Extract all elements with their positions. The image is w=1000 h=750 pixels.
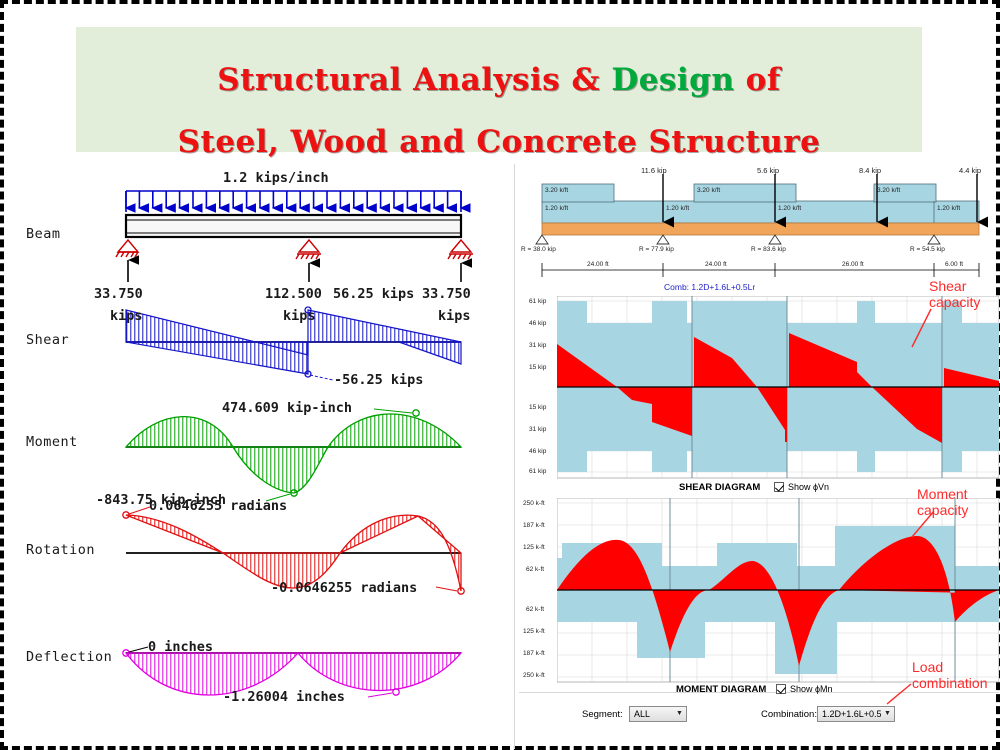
upper-dist-load-label-1: 3.20 k/ft	[545, 187, 568, 194]
shear-ytick-bottom-4: 61 kip	[529, 468, 546, 475]
moment-ytick-top-2: 187 k-ft	[523, 522, 545, 529]
lower-dist-load-label-4: 1.20 k/ft	[937, 205, 960, 212]
shear-ytick-top-3: 31 kip	[529, 342, 546, 349]
point-load-label-1: 11.6 kip	[641, 166, 667, 175]
reaction-1-value: 33.750	[94, 286, 143, 302]
combination-select[interactable]: 1.2D+1.6L+0.5Lr ▼	[817, 706, 895, 722]
shear-ytick-bottom-2: 31 kip	[529, 426, 546, 433]
span-label-1: 24.00 ft	[587, 261, 609, 268]
beam-supports	[116, 240, 473, 259]
reaction-2-unit: kips	[283, 308, 316, 324]
moment-diagram-graphic	[126, 409, 461, 501]
shear-chart: 61 kip 46 kip 31 kip 15 kip 15 kip 31 ki…	[519, 296, 999, 486]
moment-diagram-caption: MOMENT DIAGRAM	[676, 684, 766, 695]
span-label-3: 26.00 ft	[842, 261, 864, 268]
show-phi-mn-checkbox[interactable]	[776, 684, 786, 694]
beam-member	[126, 215, 461, 237]
slide-frame: Structural Analysis & Design of Steel, W…	[0, 0, 1000, 750]
shear-capacity-annotation-line1: Shear	[929, 278, 966, 294]
moment-ytick-bottom-3: 187 k-ft	[523, 650, 545, 657]
reaction-3-value: 56.25 kips	[333, 286, 414, 302]
beam-reaction-arrows	[128, 260, 461, 282]
load-combination-annotation: Load combination	[912, 659, 988, 691]
shear-chart-svg	[557, 296, 999, 480]
shear-ytick-top-1: 61 kip	[529, 298, 546, 305]
moment-chart-svg	[557, 498, 999, 684]
reaction-1-unit: kips	[110, 308, 143, 324]
show-phi-mn-label: Show ϕMn	[790, 684, 833, 694]
moment-max-label: 474.609 kip-inch	[222, 400, 352, 416]
beam-distributed-load	[126, 191, 461, 212]
load-combination-header: Comb: 1.2D+1.6L+0.5Lr	[664, 282, 755, 292]
reaction-2-value: 112.500	[265, 286, 322, 302]
title-part-structural-analysis: Structural Analysis &	[217, 62, 611, 98]
segment-select[interactable]: ALL ▼	[629, 706, 687, 722]
support-reaction-label-4: R = 54.5 kip	[910, 246, 945, 253]
shear-ytick-bottom-1: 15 kip	[529, 404, 546, 411]
shear-ytick-top-4: 15 kip	[529, 364, 546, 371]
moment-capacity-annotation-line1: Moment	[917, 486, 968, 502]
deflection-min-label: -1.26004 inches	[223, 689, 345, 705]
moment-ytick-top-1: 250 k-ft	[523, 500, 545, 507]
point-load-label-2: 5.6 kip	[757, 166, 779, 175]
rotation-min-label: -0.0646255 radians	[271, 580, 417, 596]
load-combination-annotation-line2: combination	[912, 675, 988, 691]
shear-capacity-annotation-line2: capacity	[929, 294, 980, 310]
chevron-down-icon-2: ▼	[881, 707, 894, 721]
chevron-down-icon: ▼	[673, 707, 686, 721]
lower-dist-load-label-1: 1.20 k/ft	[545, 205, 568, 212]
shear-ytick-bottom-3: 46 kip	[529, 448, 546, 455]
segment-select-value: ALL	[630, 709, 673, 719]
moment-capacity-annotation-line2: capacity	[917, 502, 968, 518]
upper-dist-load-label-3: 3.20 k/ft	[877, 187, 900, 194]
shear-diagram-caption: SHEAR DIAGRAM	[679, 482, 760, 493]
support-reaction-label-2: R = 77.9 kip	[639, 246, 674, 253]
combination-label: Combination:	[761, 709, 817, 720]
reaction-4-value: 33.750	[422, 286, 471, 302]
title-part-design: Design	[611, 62, 734, 98]
left-analysis-panel: Beam Shear Moment Rotation Deflection	[18, 164, 513, 749]
load-combination-annotation-line1: Load	[912, 659, 943, 675]
show-phi-vn-label: Show ϕVn	[788, 482, 829, 492]
moment-ytick-top-4: 62 k-ft	[526, 566, 544, 573]
point-load-label-4: 4.4 kip	[959, 166, 981, 175]
reaction-4-unit: kips	[438, 308, 471, 324]
moment-ytick-bottom-4: 250 k-ft	[523, 672, 545, 679]
beam-distributed-load-label: 1.2 kips/inch	[223, 170, 329, 186]
point-load-label-3: 8.4 kip	[859, 166, 881, 175]
moment-capacity-annotation: Moment capacity	[917, 486, 968, 518]
moment-ytick-bottom-1: 62 k-ft	[526, 606, 544, 613]
panel-divider	[514, 164, 515, 749]
show-phi-vn-checkbox[interactable]	[774, 482, 784, 492]
span-label-2: 24.00 ft	[705, 261, 727, 268]
shear-capacity-annotation: Shear capacity	[929, 278, 980, 310]
page-title-line-2: Steel, Wood and Concrete Structure	[76, 127, 922, 158]
lower-dist-load-label-2: 1.20 k/ft	[666, 205, 689, 212]
rotation-max-label: 0.0646255 radians	[149, 498, 287, 514]
lower-dist-load-label-3: 1.20 k/ft	[778, 205, 801, 212]
deflection-max-label: 0 inches	[148, 639, 213, 655]
combination-select-value: 1.2D+1.6L+0.5Lr	[818, 709, 881, 719]
upper-dist-load-label-2: 3.20 k/ft	[697, 187, 720, 194]
moment-ytick-top-3: 125 k-ft	[523, 544, 545, 551]
shear-min-label: -56.25 kips	[334, 372, 423, 388]
right-design-panel: 11.6 kip 5.6 kip 8.4 kip 4.4 kip 3.20 k/…	[519, 164, 999, 749]
left-diagrams-svg	[18, 164, 513, 749]
title-banner: Structural Analysis & Design of Steel, W…	[76, 27, 922, 152]
support-reaction-label-3: R = 83.6 kip	[751, 246, 786, 253]
support-reaction-label-1: R = 38.0 kip	[521, 246, 556, 253]
span-label-4: 6.00 ft	[945, 261, 963, 268]
shear-ytick-top-2: 46 kip	[529, 320, 546, 327]
segment-label: Segment:	[582, 709, 623, 720]
page-title-line-1: Structural Analysis & Design of	[76, 65, 922, 96]
moment-ytick-bottom-2: 125 k-ft	[523, 628, 545, 635]
beam-model-svg	[519, 164, 999, 289]
title-part-of: of	[734, 62, 780, 98]
